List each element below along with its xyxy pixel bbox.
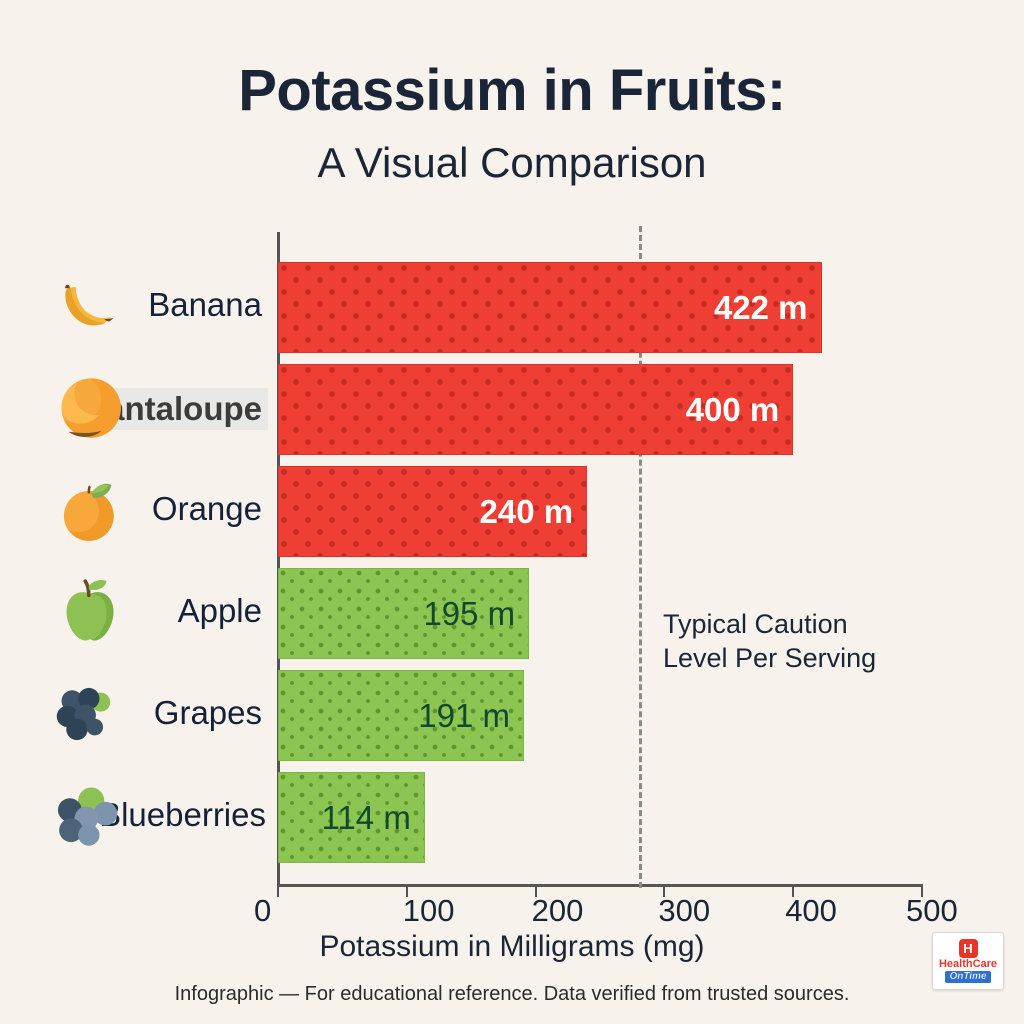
bar-value-label: 195 m [423, 595, 529, 633]
bar-blueberries[interactable]: 114 m [278, 772, 425, 863]
category-label-grapes: Grapes [154, 694, 262, 732]
x-axis-title: Potassium in Milligrams (mg) [0, 930, 1024, 964]
bar-apple[interactable]: 195 m [278, 568, 529, 659]
footer-disclaimer: Infographic — For educational reference.… [0, 983, 1024, 1006]
bar-value-label: 191 m [418, 697, 524, 735]
caution-annotation: Typical Caution Level Per Serving [663, 607, 903, 676]
x-tick-label: 100 [403, 893, 455, 929]
bar-orange[interactable]: 240 m [278, 466, 587, 557]
bar-cantaloupe[interactable]: 400 m [278, 364, 793, 455]
x-axis-spine [277, 884, 923, 887]
bar-value-label: 114 m [322, 799, 425, 837]
x-tick-label: 200 [532, 893, 584, 929]
page-subtitle: A Visual Comparison [0, 140, 1024, 186]
blueberries-icon [52, 778, 128, 854]
category-label-banana: Banana [148, 286, 262, 324]
x-tick-label: 300 [658, 893, 710, 929]
orange-icon [52, 472, 128, 548]
logo-secondary-text: OnTime [945, 971, 990, 984]
cantaloupe-icon [52, 370, 128, 446]
brand-logo[interactable]: H HealthCare OnTime [932, 932, 1004, 990]
caution-annotation-line-2: Level Per Serving [663, 641, 903, 675]
bar-banana[interactable]: 422 m [278, 262, 822, 353]
banana-icon [52, 268, 128, 344]
bar-grapes[interactable]: 191 m [278, 670, 524, 761]
bar-value-label: 400 m [686, 391, 794, 429]
infographic-canvas: Potassium in Fruits: A Visual Comparison… [0, 0, 1024, 1024]
caution-annotation-line-1: Typical Caution [663, 607, 903, 641]
bar-value-label: 240 m [480, 493, 588, 531]
grapes-icon [52, 676, 128, 752]
x-tick-label: 0 [254, 893, 271, 929]
category-label-apple: Apple [178, 592, 262, 630]
x-tick [277, 884, 279, 897]
bar-value-label: 422 m [714, 289, 822, 327]
logo-primary-text: HealthCare [939, 959, 997, 970]
x-tick-label: 500 [906, 893, 958, 929]
x-tick-label: 400 [785, 893, 837, 929]
page-title: Potassium in Fruits: [0, 62, 1024, 120]
category-label-orange: Orange [152, 490, 262, 528]
apple-icon [52, 574, 128, 650]
logo-h-icon: H [959, 939, 978, 958]
